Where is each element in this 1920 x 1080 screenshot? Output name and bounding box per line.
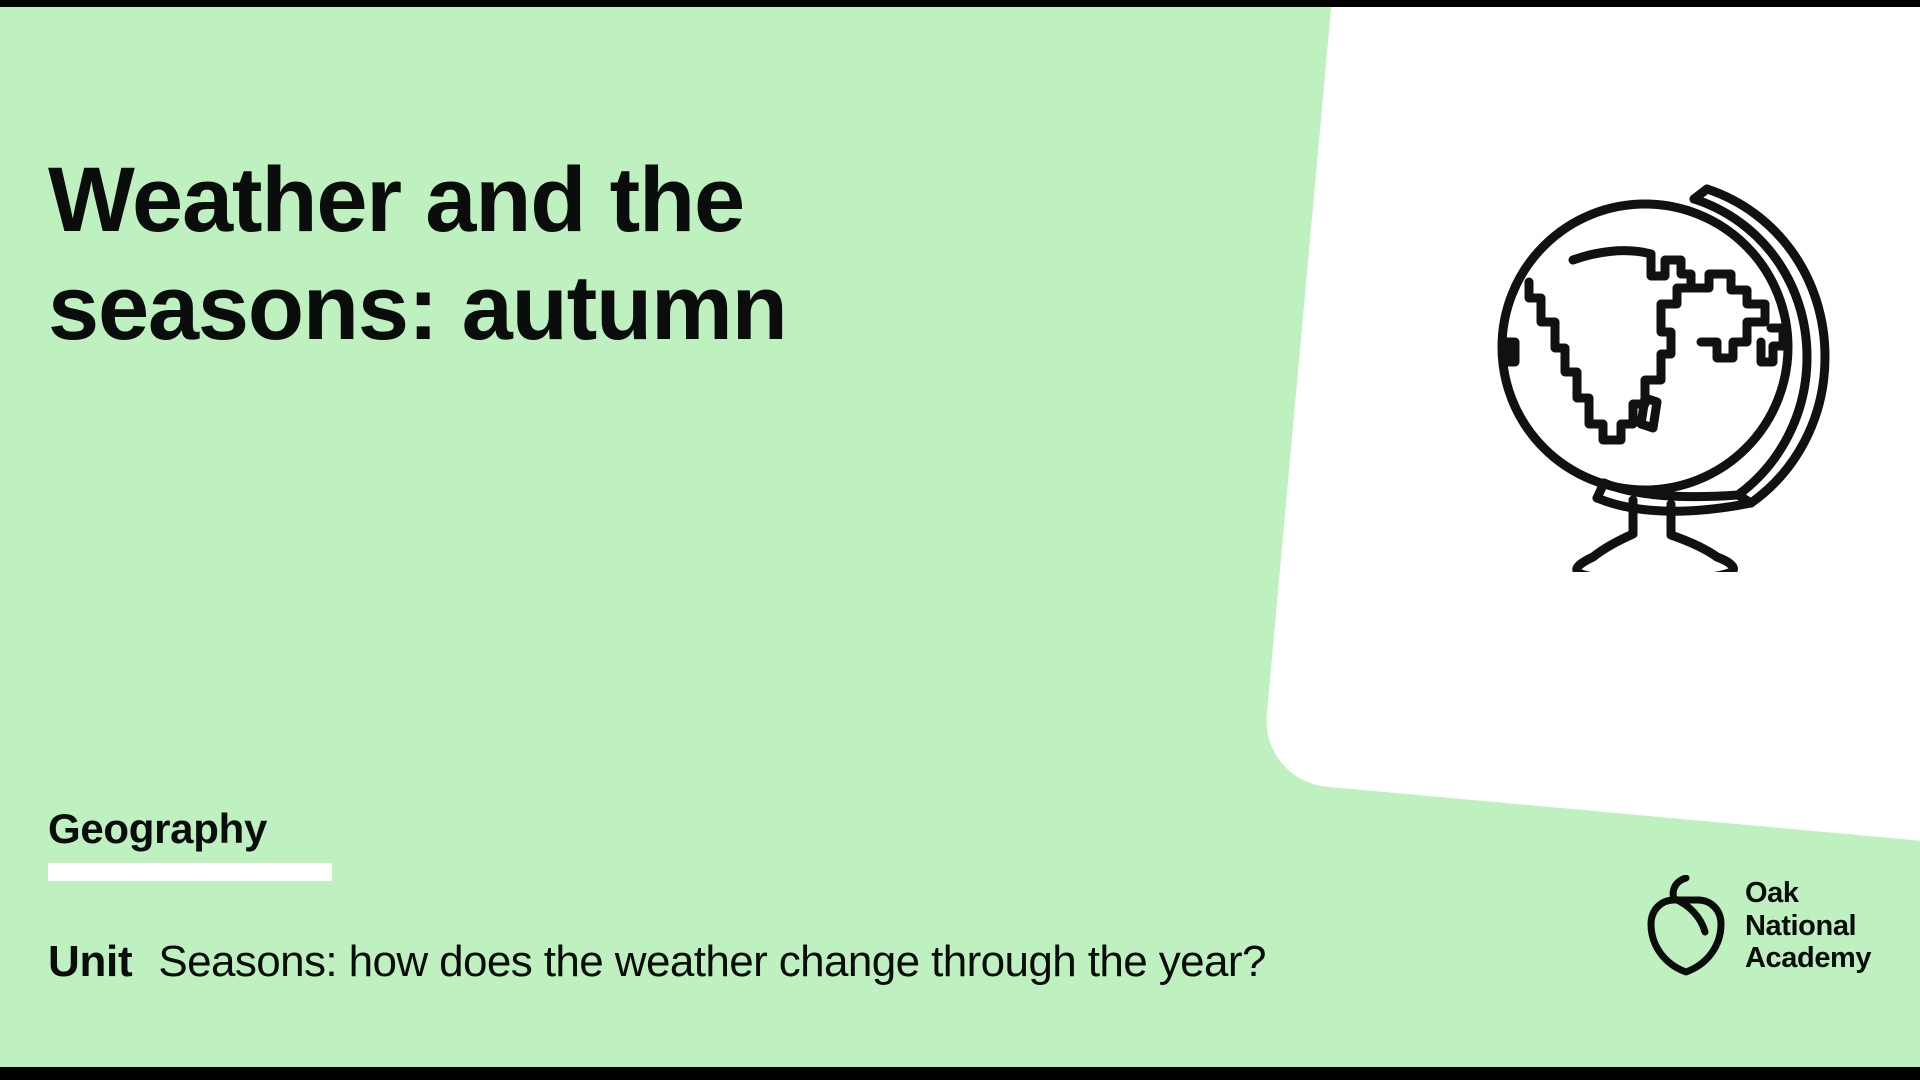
slide-stage: Weather and the seasons: autumn Geograph… xyxy=(0,7,1920,1067)
page-title: Weather and the seasons: autumn xyxy=(48,147,1048,362)
oak-word-line1: Oak xyxy=(1745,877,1871,910)
oak-national-academy-logo: Oak National Academy xyxy=(1645,875,1871,977)
oak-wordmark: Oak National Academy xyxy=(1745,877,1871,975)
unit-block: Unit Seasons: how does the weather chang… xyxy=(48,937,1266,987)
unit-label: Unit xyxy=(48,937,132,987)
oak-word-line3: Academy xyxy=(1745,942,1871,975)
letterbox-bar-top xyxy=(0,0,1920,7)
subject-label: Geography xyxy=(48,805,267,857)
acorn-icon xyxy=(1645,875,1727,977)
letterbox-bar-bottom xyxy=(0,1067,1920,1080)
lesson-title-slide: Weather and the seasons: autumn Geograph… xyxy=(0,0,1920,1080)
subject-block: Geography xyxy=(48,805,267,857)
unit-title: Seasons: how does the weather change thr… xyxy=(158,937,1266,987)
title-block: Weather and the seasons: autumn xyxy=(48,147,1048,362)
oak-word-line2: National xyxy=(1745,910,1871,943)
subject-underline xyxy=(48,863,332,881)
globe-illustration xyxy=(1485,142,1830,572)
